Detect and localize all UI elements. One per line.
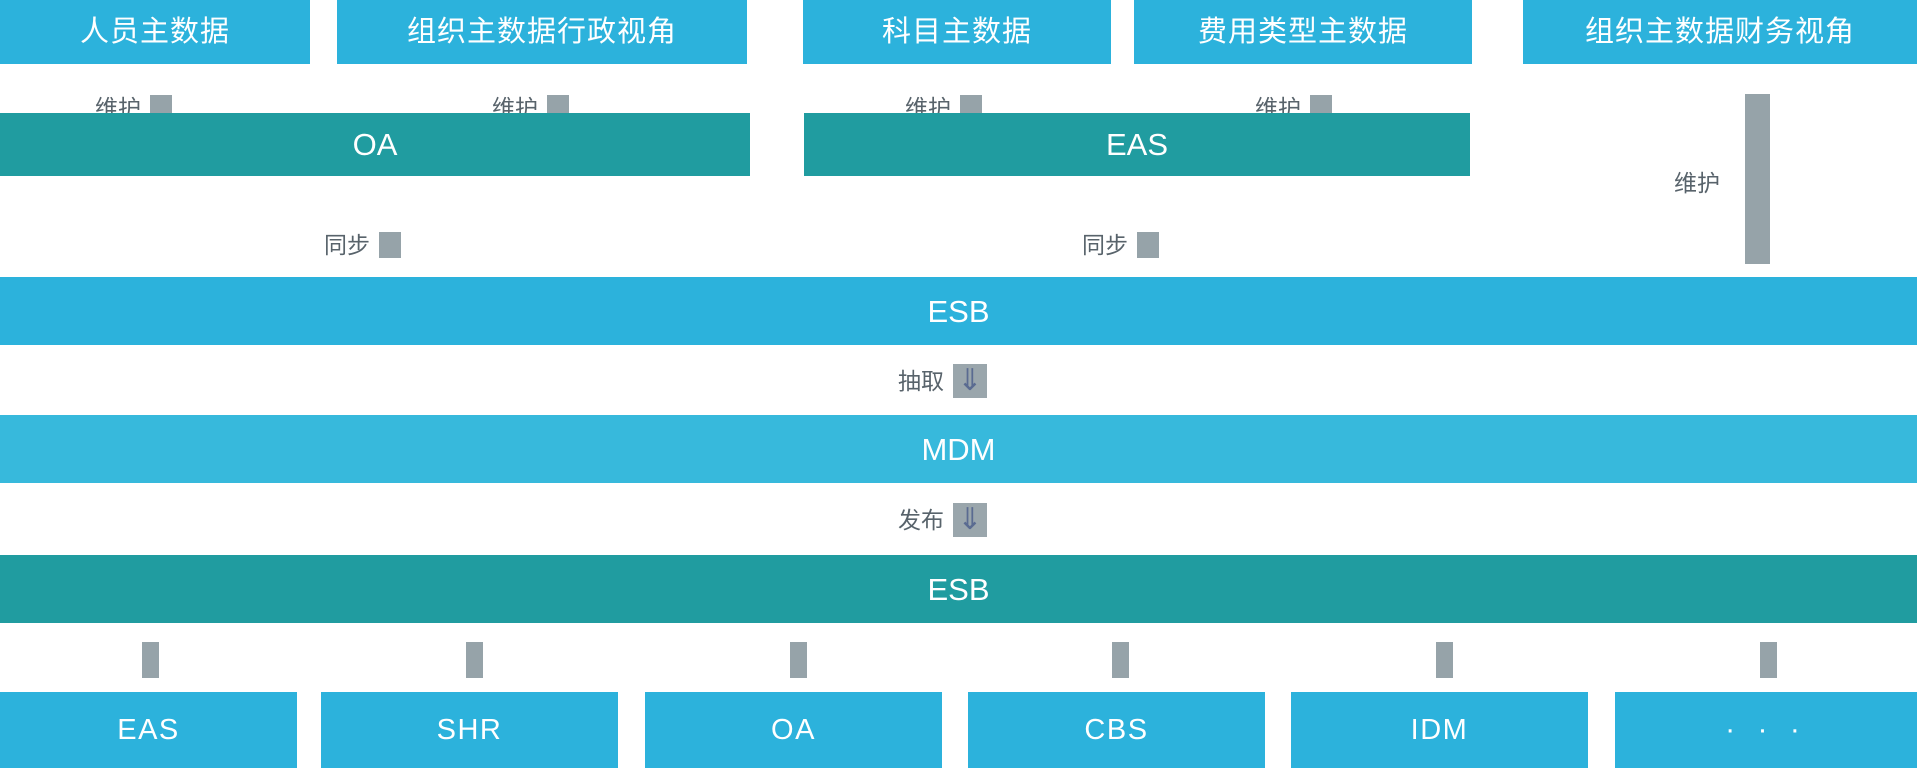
connector-label: 发布 bbox=[898, 509, 944, 532]
destination-box-more[interactable]: · · · bbox=[1615, 692, 1917, 768]
destination-box-label: OA bbox=[771, 716, 816, 745]
destination-box-label: SHR bbox=[437, 716, 503, 745]
bus-bar-esb-top[interactable]: ESB bbox=[0, 277, 1917, 345]
destination-box-label: EAS bbox=[117, 716, 180, 745]
bus-bar-esb-bottom[interactable]: ESB bbox=[0, 555, 1917, 623]
bus-bar-mdm[interactable]: MDM bbox=[0, 415, 1917, 483]
connector-label: 维护 bbox=[1674, 170, 1720, 196]
arrow-down-icon bbox=[379, 232, 401, 258]
app-bar-eas[interactable]: EAS bbox=[804, 113, 1470, 176]
arrow-down-icon bbox=[1137, 232, 1159, 258]
app-bar-label: OA bbox=[353, 129, 398, 160]
extract-connector: 抽取 ⇓ bbox=[898, 364, 987, 398]
sync-connector-1: 同步 bbox=[324, 232, 401, 258]
destination-box-shr[interactable]: SHR bbox=[321, 692, 618, 768]
app-bar-label: EAS bbox=[1106, 129, 1168, 160]
double-arrow-down-icon: ⇓ bbox=[953, 364, 987, 398]
destination-box-label: CBS bbox=[1084, 716, 1148, 745]
connector-label: 同步 bbox=[1082, 234, 1128, 257]
destination-box-idm[interactable]: IDM bbox=[1291, 692, 1588, 768]
vertical-connector-bar bbox=[142, 642, 159, 678]
vertical-connector-bar bbox=[1112, 642, 1129, 678]
connector-label: 同步 bbox=[324, 234, 370, 257]
vertical-connector-bar bbox=[790, 642, 807, 678]
source-box-account-master-data[interactable]: 科目主数据 bbox=[803, 0, 1111, 64]
vertical-connector-bar bbox=[1745, 94, 1770, 264]
vertical-connector-bar bbox=[466, 642, 483, 678]
mdm-architecture-diagram: 人员主数据 组织主数据行政视角 科目主数据 费用类型主数据 组织主数据财务视角 … bbox=[0, 0, 1917, 768]
double-arrow-down-icon: ⇓ bbox=[953, 503, 987, 537]
maintain-connector-5-label: 维护 bbox=[1674, 164, 1720, 198]
source-box-personnel-master-data[interactable]: 人员主数据 bbox=[0, 0, 310, 64]
vertical-connector-bar bbox=[1436, 642, 1453, 678]
source-box-expense-type-master-data[interactable]: 费用类型主数据 bbox=[1134, 0, 1472, 64]
publish-connector: 发布 ⇓ bbox=[898, 503, 987, 537]
destination-box-label: · · · bbox=[1725, 715, 1807, 745]
source-box-label: 人员主数据 bbox=[80, 18, 230, 47]
bus-bar-label: ESB bbox=[927, 574, 989, 605]
source-box-label: 组织主数据财务视角 bbox=[1585, 18, 1855, 47]
destination-box-eas[interactable]: EAS bbox=[0, 692, 297, 768]
app-bar-oa[interactable]: OA bbox=[0, 113, 750, 176]
source-box-org-admin-view[interactable]: 组织主数据行政视角 bbox=[337, 0, 747, 64]
vertical-connector-bar bbox=[1760, 642, 1777, 678]
bus-bar-label: MDM bbox=[921, 434, 995, 465]
destination-box-cbs[interactable]: CBS bbox=[968, 692, 1265, 768]
source-box-label: 费用类型主数据 bbox=[1198, 18, 1408, 47]
source-box-label: 组织主数据行政视角 bbox=[407, 18, 677, 47]
source-box-label: 科目主数据 bbox=[882, 18, 1032, 47]
connector-label: 抽取 bbox=[898, 370, 944, 393]
source-box-org-finance-view[interactable]: 组织主数据财务视角 bbox=[1523, 0, 1917, 64]
sync-connector-2: 同步 bbox=[1082, 232, 1159, 258]
destination-box-oa[interactable]: OA bbox=[645, 692, 942, 768]
destination-box-label: IDM bbox=[1411, 716, 1469, 745]
bus-bar-label: ESB bbox=[927, 296, 989, 327]
